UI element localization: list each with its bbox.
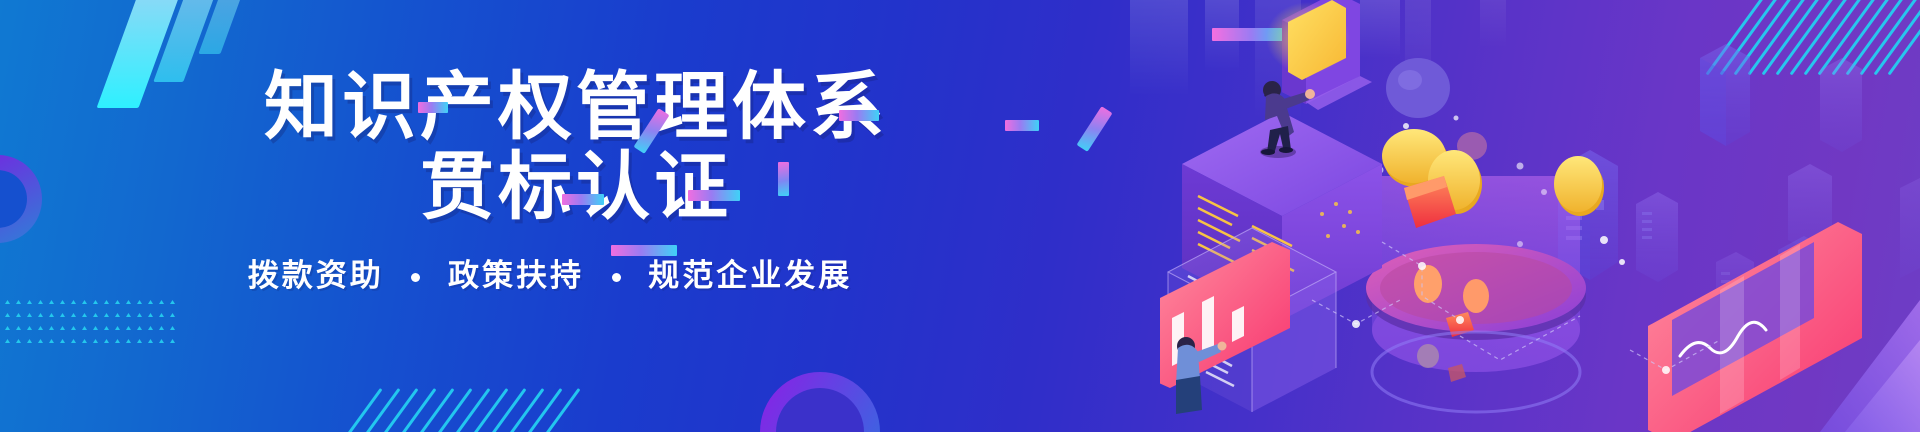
accent-chip [839, 110, 879, 121]
subtitle-item-1: 拨款资助 [248, 258, 384, 293]
accent-chip [1005, 120, 1039, 131]
accent-chip [688, 190, 740, 201]
coin-cylinder-tank [1366, 176, 1586, 412]
isometric-illustration [1160, 0, 1920, 432]
subtitle-item-3: 规范企业发展 [648, 258, 852, 293]
pink-waveform-screen [1648, 222, 1862, 432]
bullet-separator-icon [612, 273, 621, 282]
title-line-1-wrap: 知识产权管理体系 [0, 68, 1100, 146]
title-line-2-wrap: 贯标认证 [0, 148, 1100, 226]
banner-subtitle: 拨款资助 政策扶持 规范企业发展 [0, 250, 1100, 295]
accent-chip [562, 194, 604, 205]
coin-bottom [1417, 344, 1439, 368]
bullet-separator-icon [411, 273, 420, 282]
purple-sphere [1386, 58, 1450, 118]
banner-copy: 知识产权管理体系 贯标认证 拨款资助 政策扶持 规范企业发展 [0, 0, 1100, 432]
coin [1414, 265, 1442, 303]
banner-title-line-1: 知识产权管理体系 [264, 68, 888, 146]
banner-title-line-2: 贯标认证 [420, 148, 732, 226]
kiosk-yellow-screen [1266, 0, 1372, 110]
accent-chip-vert [778, 162, 789, 196]
accent-chip [418, 102, 448, 113]
coin [1463, 279, 1489, 313]
subtitle-item-2: 政策扶持 [448, 258, 584, 293]
illustration-svg [1160, 0, 1920, 432]
promo-banner: 知识产权管理体系 贯标认证 拨款资助 政策扶持 规范企业发展 [0, 0, 1920, 432]
